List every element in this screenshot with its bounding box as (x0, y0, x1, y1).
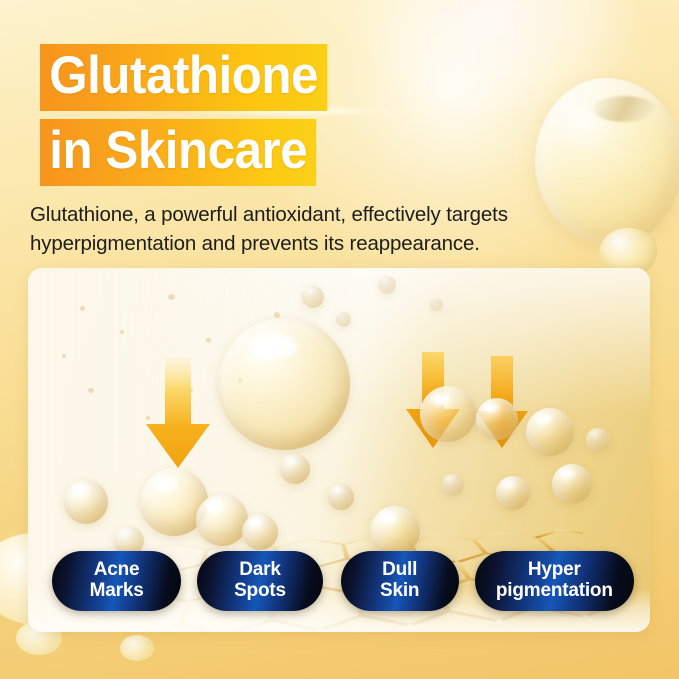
bubble (302, 286, 324, 308)
serum-blob-bottom (120, 635, 154, 661)
product-visual-panel: Acne Marks Dark Spots Dull Skin Hyper (28, 268, 650, 632)
badge-dull-skin[interactable]: Dull Skin (341, 551, 459, 611)
page-title: Glutathione in Skincare (40, 44, 349, 186)
bubble (378, 276, 396, 294)
badge-label-line2: Skin (380, 580, 419, 601)
badge-label-line2: Marks (90, 580, 144, 601)
badge-acne-marks[interactable]: Acne Marks (52, 551, 181, 611)
speckle (62, 354, 66, 358)
badge-dark-spots[interactable]: Dark Spots (197, 551, 322, 611)
badge-label-line2: pigmentation (496, 580, 613, 601)
glutathione-molecule-sphere (218, 318, 350, 450)
serum-droplet-highlight (593, 96, 655, 122)
molecule-sphere (476, 398, 518, 440)
molecule-sphere (526, 408, 574, 456)
molecule-sphere (196, 494, 248, 546)
speckle (120, 330, 124, 334)
bubble (336, 312, 351, 327)
page-background: Glutathione in Skincare Glutathione, a p… (0, 0, 679, 679)
speckle (168, 294, 175, 300)
badge-label-line1: Dark (239, 559, 280, 580)
molecule-sphere (328, 484, 354, 510)
speckle (206, 338, 211, 343)
badge-label-line1: Dull (382, 559, 417, 580)
badge-label-line1: Hyper (528, 559, 581, 580)
badge-hyperpigmentation[interactable]: Hyper pigmentation (475, 551, 634, 611)
molecule-sphere (64, 480, 108, 524)
down-arrow-1-icon (146, 358, 210, 468)
page-title-line2: in Skincare (40, 119, 317, 186)
badge-label-line2: Spots (234, 580, 286, 601)
molecule-sphere (496, 476, 530, 510)
badge-label-line1: Acne (94, 559, 140, 580)
molecule-sphere (442, 474, 464, 496)
speckle (274, 312, 280, 318)
molecule-sphere (280, 454, 310, 484)
subtitle-text: Glutathione, a powerful antioxidant, eff… (30, 200, 590, 258)
page-title-line1: Glutathione (40, 44, 327, 111)
molecule-sphere (370, 506, 420, 556)
molecule-sphere (552, 464, 592, 504)
molecule-sphere (420, 386, 476, 442)
molecule-sphere (586, 428, 610, 452)
speckle (88, 388, 94, 393)
speckle (80, 306, 85, 311)
molecule-sphere (242, 514, 278, 550)
bubble (430, 298, 443, 311)
benefit-badge-row: Acne Marks Dark Spots Dull Skin Hyper (28, 550, 650, 612)
